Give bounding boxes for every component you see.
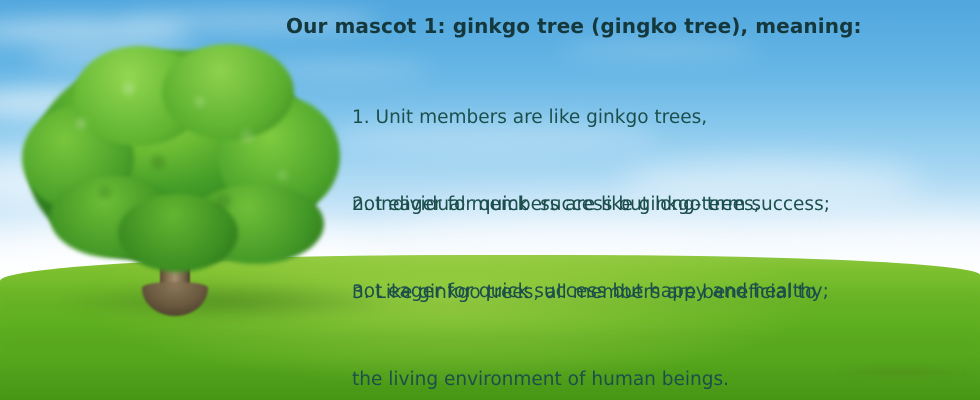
banner-heading: Our mascot 1: ginkgo tree (gingko tree),…: [286, 14, 862, 38]
paragraph-1-line-1: 1. Unit members are like ginkgo trees,: [352, 103, 830, 132]
paragraph-3-line-2: the living environment of human beings.: [352, 365, 816, 394]
paragraph-3: 3. Like ginkgo trees, all members are be…: [352, 220, 816, 400]
paragraph-3-line-1: 3. Like ginkgo trees, all members are be…: [352, 278, 816, 307]
mascot-banner: Our mascot 1: ginkgo tree (gingko tree),…: [0, 0, 980, 400]
banner-text: Our mascot 1: ginkgo tree (gingko tree),…: [0, 0, 980, 400]
paragraph-2-line-1: 2. Individual members are like ginkgo tr…: [352, 190, 829, 219]
